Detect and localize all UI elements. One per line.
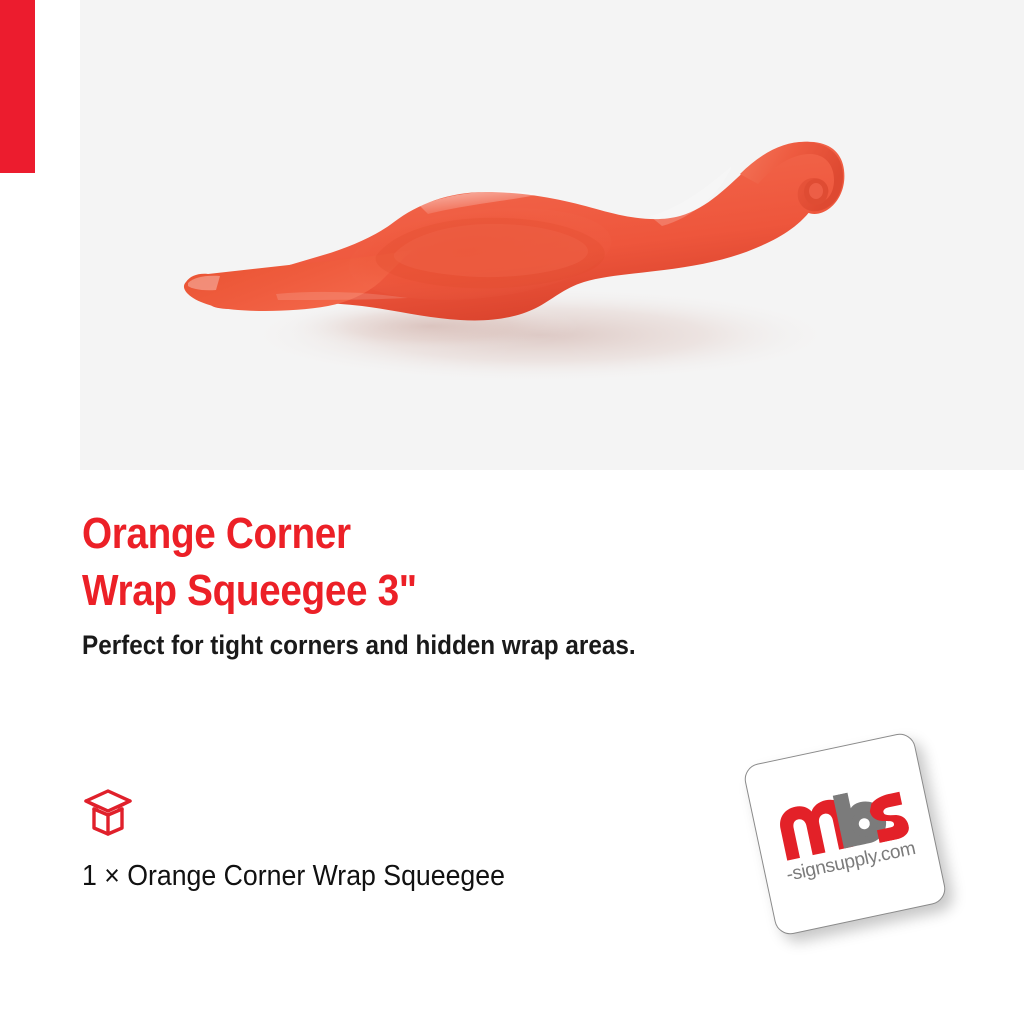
- box-contents-block: 1 × Orange Corner Wrap Squeegee: [82, 788, 702, 894]
- left-accent-bar: [0, 0, 35, 173]
- product-image-panel: [80, 0, 1024, 470]
- product-photo: [80, 0, 1024, 470]
- product-squeegee-illustration: [180, 130, 900, 390]
- page-title-line-2: Wrap Squeegee 3": [82, 562, 786, 619]
- product-card-page: Orange Corner Wrap Squeegee 3" Perfect f…: [0, 0, 1024, 1024]
- brand-logo: -signsupply.com: [744, 733, 944, 933]
- box-contents-line: 1 × Orange Corner Wrap Squeegee: [82, 858, 652, 894]
- product-subtitle: Perfect for tight corners and hidden wra…: [82, 628, 802, 662]
- product-copy-block: Orange Corner Wrap Squeegee 3" Perfect f…: [82, 505, 882, 662]
- page-title-line-1: Orange Corner: [82, 505, 786, 562]
- brand-logo-card: -signsupply.com: [742, 731, 948, 937]
- open-box-icon: [82, 788, 134, 836]
- brand-logo-inner: -signsupply.com: [743, 732, 947, 936]
